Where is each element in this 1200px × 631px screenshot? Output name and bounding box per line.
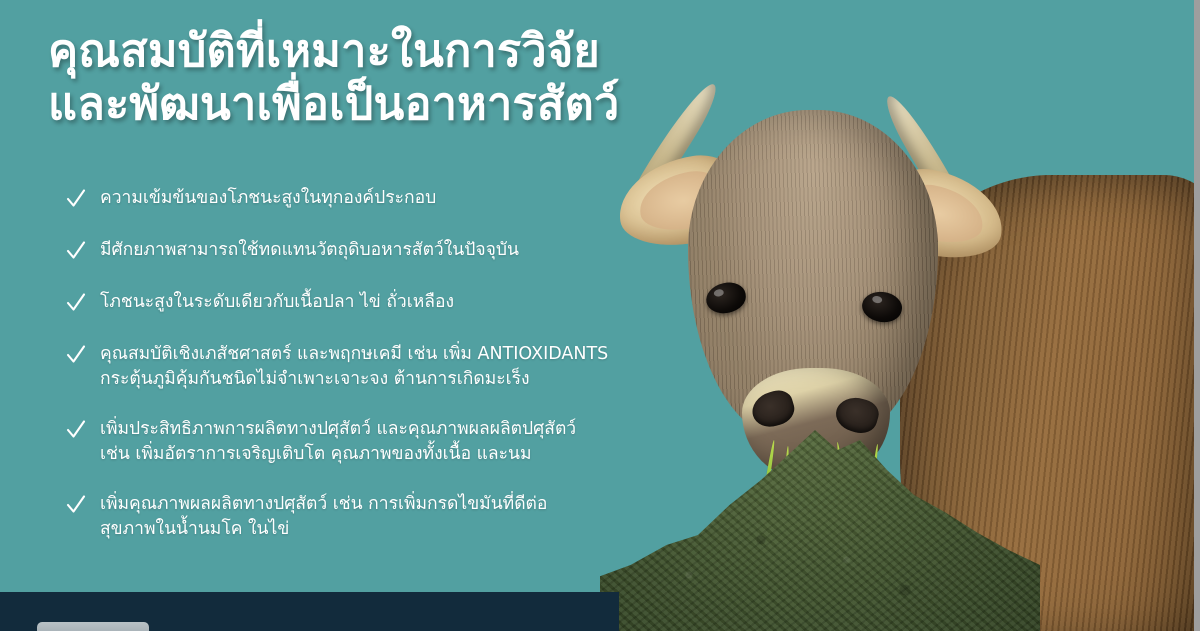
list-item: เพิ่มคุณภาพผลผลิตทางปศุสัตว์ เช่น การเพิ… [66, 492, 547, 543]
cow-forelock [728, 112, 898, 184]
list-item-label: เพิ่มคุณภาพผลผลิตทางปศุสัตว์ เช่น การเพิ… [100, 492, 547, 543]
check-icon [66, 419, 86, 441]
bottom-tab-handle[interactable] [37, 622, 149, 631]
list-item-label: คุณสมบัติเชิงเภสัชศาสตร์ และพฤกษเคมี เช่… [100, 342, 608, 393]
check-icon [66, 344, 86, 366]
list-item-label: ความเข้มข้นของโภชนะสูงในทุกองค์ประกอบ [100, 186, 436, 211]
list-item: ความเข้มข้นของโภชนะสูงในทุกองค์ประกอบ [66, 186, 436, 211]
slide-canvas: คุณสมบัติที่เหมาะในการวิจัย และพัฒนาเพื่… [0, 0, 1200, 631]
list-item-label: โภชนะสูงในระดับเดียวกับเนื้อปลา ไข่ ถั่ว… [100, 290, 454, 315]
list-item: เพิ่มประสิทธิภาพการผลิตทางปศุสัตว์ และคุ… [66, 417, 576, 468]
text-panel: คุณสมบัติที่เหมาะในการวิจัย และพัฒนาเพื่… [0, 0, 640, 631]
list-item: โภชนะสูงในระดับเดียวกับเนื้อปลา ไข่ ถั่ว… [66, 290, 454, 315]
check-icon [66, 240, 86, 262]
list-item: คุณสมบัติเชิงเภสัชศาสตร์ และพฤกษเคมี เช่… [66, 342, 608, 393]
page-scrollbar[interactable] [1194, 0, 1200, 631]
check-icon [66, 292, 86, 314]
check-icon [66, 494, 86, 516]
list-item-label: เพิ่มประสิทธิภาพการผลิตทางปศุสัตว์ และคุ… [100, 417, 576, 468]
list-item-label: มีศักยภาพสามารถใช้ทดแทนวัตถุดิบอหารสัตว์… [100, 238, 519, 263]
page-title: คุณสมบัติที่เหมาะในการวิจัย และพัฒนาเพื่… [48, 24, 748, 130]
check-icon [66, 188, 86, 210]
list-item: มีศักยภาพสามารถใช้ทดแทนวัตถุดิบอหารสัตว์… [66, 238, 519, 263]
